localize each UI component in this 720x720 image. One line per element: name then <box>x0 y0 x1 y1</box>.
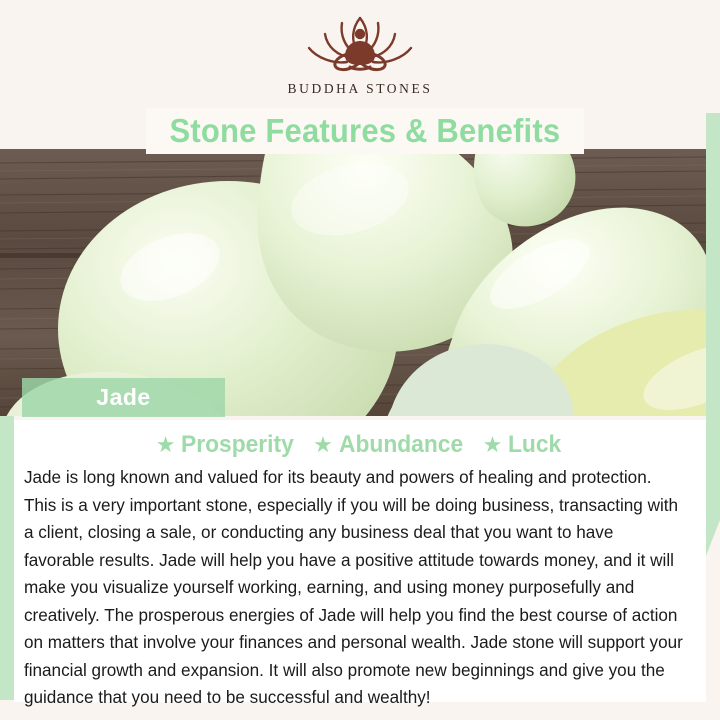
content-panel: ★ Prosperity ★ Abundance ★ Luck Jade is … <box>14 420 706 702</box>
brand-name: BUDDHA STONES <box>288 81 433 97</box>
brand-header: BUDDHA STONES <box>0 0 720 113</box>
stone-name: Jade <box>96 384 150 411</box>
page-title: Stone Features & Benefits <box>170 112 561 150</box>
benefit-label: Luck <box>508 431 561 459</box>
title-banner: Stone Features & Benefits <box>146 108 584 154</box>
benefit-label: Abundance <box>339 431 463 459</box>
benefit-item: ★ Prosperity <box>156 431 300 459</box>
star-icon: ★ <box>483 434 503 456</box>
stone-name-band: Jade <box>22 378 225 417</box>
star-icon: ★ <box>156 434 176 456</box>
benefit-label: Prosperity <box>181 431 294 459</box>
benefit-item: ★ Luck <box>483 431 565 459</box>
stone-photo <box>0 149 706 416</box>
benefit-item: ★ Abundance <box>313 431 469 459</box>
star-icon: ★ <box>313 434 333 456</box>
stone-description: Jade is long known and valued for its be… <box>20 464 690 712</box>
benefits-row: ★ Prosperity ★ Abundance ★ Luck <box>20 428 700 462</box>
lotus-meditation-icon <box>295 8 425 80</box>
